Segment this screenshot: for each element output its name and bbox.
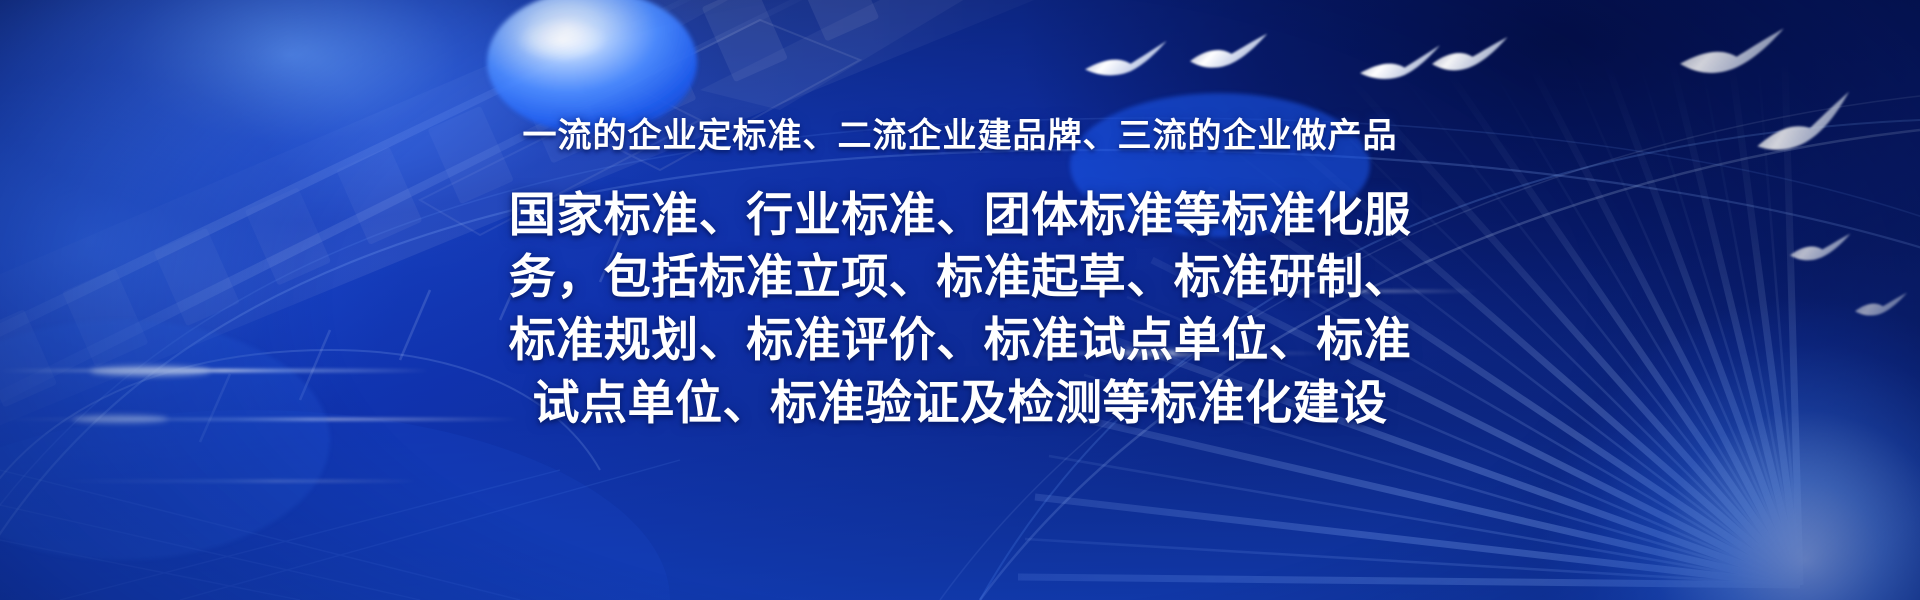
banner-body-text: 国家标准、行业标准、团体标准等标准化服 务，包括标准立项、标准起草、标准研制、 …: [445, 184, 1475, 436]
banner-body-line: 国家标准、行业标准、团体标准等标准化服: [445, 184, 1475, 247]
promo-banner: 一流的企业定标准、二流企业建品牌、三流的企业做产品 国家标准、行业标准、团体标准…: [0, 0, 1920, 600]
banner-text-block: 一流的企业定标准、二流企业建品牌、三流的企业做产品 国家标准、行业标准、团体标准…: [0, 0, 1920, 435]
banner-body-line: 务，包括标准立项、标准起草、标准研制、: [445, 246, 1475, 309]
banner-body-line: 标准规划、标准评价、标准试点单位、标准: [445, 309, 1475, 372]
banner-body-line: 试点单位、标准验证及检测等标准化建设: [445, 372, 1475, 435]
banner-headline: 一流的企业定标准、二流企业建品牌、三流的企业做产品: [0, 0, 1920, 158]
